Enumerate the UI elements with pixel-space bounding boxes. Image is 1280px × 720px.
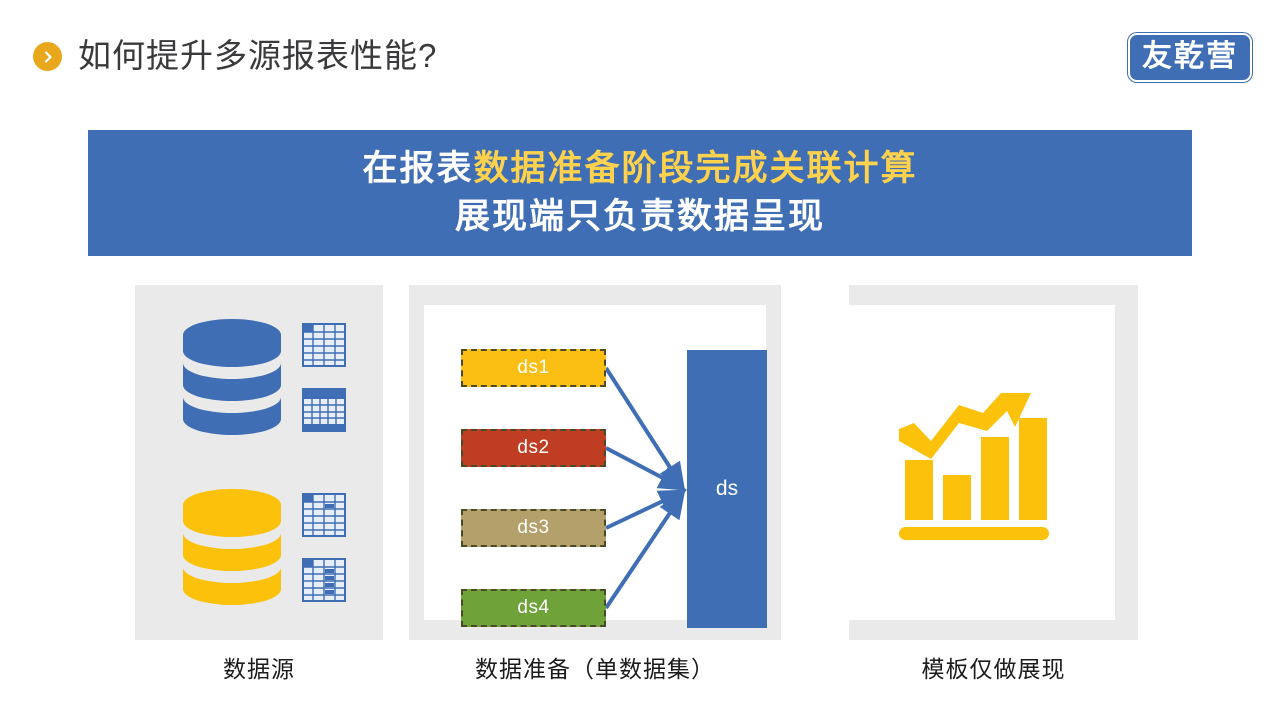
caption-data-preparation: 数据准备（单数据集） (409, 650, 781, 684)
data-preparation-card: ds1 ds2 ds3 ds4 ds (424, 305, 766, 620)
panel-template-display (849, 285, 1138, 640)
table-icon-4 (302, 558, 346, 602)
dataset-label: ds2 (517, 437, 549, 459)
headline-line-2: 展现端只负责数据呈现 (455, 193, 825, 241)
caption-template-display: 模板仅做展现 (849, 650, 1138, 684)
panel-data-preparation: ds1 ds2 ds3 ds4 ds (409, 285, 781, 640)
diagram-panels: ds1 ds2 ds3 ds4 ds (0, 285, 1280, 640)
table-icon-2 (302, 388, 346, 432)
table-icon-3 (302, 493, 346, 537)
dataset-box-ds4[interactable]: ds4 (461, 589, 606, 627)
brand-logo-text: 友乾营 (1142, 38, 1238, 75)
dataset-box-ds2[interactable]: ds2 (461, 429, 606, 467)
database-cylinder-blue (183, 319, 281, 435)
brand-logo: 友乾营 (1128, 33, 1252, 82)
headline-line-1: 在报表数据准备阶段完成关联计算 (362, 145, 917, 193)
panel-data-sources (135, 285, 383, 640)
headline-line-1-highlight: 数据准备阶段完成关联计算 (474, 149, 918, 188)
merged-dataset-label: ds (716, 477, 738, 501)
chevron-right-circle-icon (33, 42, 62, 71)
merged-dataset-box[interactable]: ds (687, 350, 767, 628)
headline-line-1-plain: 在报表 (362, 149, 473, 188)
database-cylinder-yellow (183, 489, 281, 605)
caption-data-sources: 数据源 (135, 650, 383, 684)
slide-header: 如何提升多源报表性能? 友乾营 (0, 0, 1280, 110)
slide-root: 如何提升多源报表性能? 友乾营 在报表数据准备阶段完成关联计算 展现端只负责数据… (0, 0, 1280, 720)
template-display-card (849, 305, 1115, 620)
growth-bar-chart-icon (897, 385, 1067, 540)
dataset-label: ds1 (517, 357, 549, 379)
headline-banner: 在报表数据准备阶段完成关联计算 展现端只负责数据呈现 (88, 130, 1192, 256)
page-title: 如何提升多源报表性能? (78, 28, 437, 84)
dataset-label: ds3 (517, 517, 549, 539)
dataset-box-ds3[interactable]: ds3 (461, 509, 606, 547)
dataset-label: ds4 (517, 597, 549, 619)
table-icon-1 (302, 323, 346, 367)
dataset-box-ds1[interactable]: ds1 (461, 349, 606, 387)
